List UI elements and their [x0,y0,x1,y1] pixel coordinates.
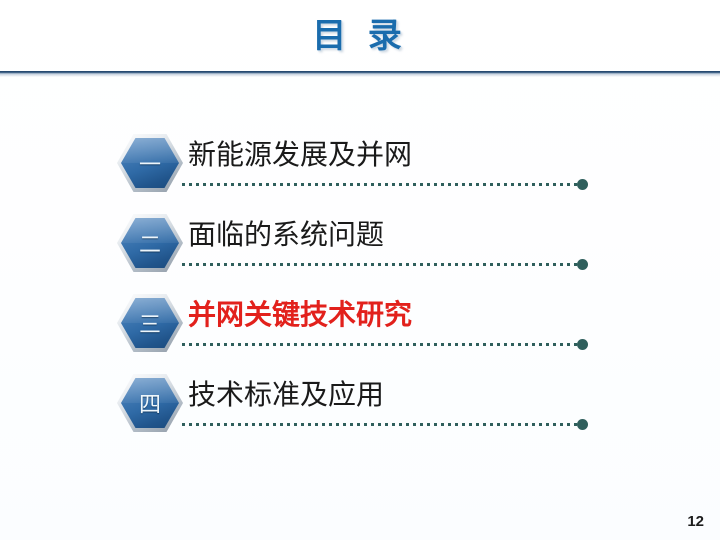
toc-item-label-3[interactable]: 并网关键技术研究 [188,298,412,332]
list-item[interactable]: 三 并网关键技术研究 [0,280,720,360]
hexagon-badge-4: 四 [117,374,183,432]
list-item[interactable]: 二 面临的系统问题 [0,200,720,280]
header-divider-shadow [0,74,720,77]
hexagon-number-label: 三 [117,294,183,352]
leader-end-dot [577,259,588,270]
list-item[interactable]: 一 新能源发展及并网 [0,120,720,200]
slide-header: 目 录 [0,0,720,78]
page-number: 12 [687,513,704,530]
toc-item-label-1[interactable]: 新能源发展及并网 [188,138,412,172]
table-of-contents-list: 一 新能源发展及并网 二 面临的系统问题 三 [0,120,720,440]
dotted-leader-line [182,263,580,266]
dotted-leader-line [182,183,580,186]
hexagon-badge-1: 一 [117,134,183,192]
dotted-leader-line [182,423,580,426]
hexagon-badge-3: 三 [117,294,183,352]
list-item[interactable]: 四 技术标准及应用 [0,360,720,440]
hexagon-number-label: 四 [117,374,183,432]
hexagon-badge-2: 二 [117,214,183,272]
slide-canvas: 目 录 一 新能源发展及并网 二 面临的系统问题 [0,0,720,540]
toc-item-label-4[interactable]: 技术标准及应用 [188,378,384,412]
hexagon-number-label: 一 [117,134,183,192]
dotted-leader-line [182,343,580,346]
hexagon-number-label: 二 [117,214,183,272]
leader-end-dot [577,339,588,350]
leader-end-dot [577,419,588,430]
toc-item-label-2[interactable]: 面临的系统问题 [188,218,384,252]
page-title: 目 录 [0,16,720,56]
leader-end-dot [577,179,588,190]
